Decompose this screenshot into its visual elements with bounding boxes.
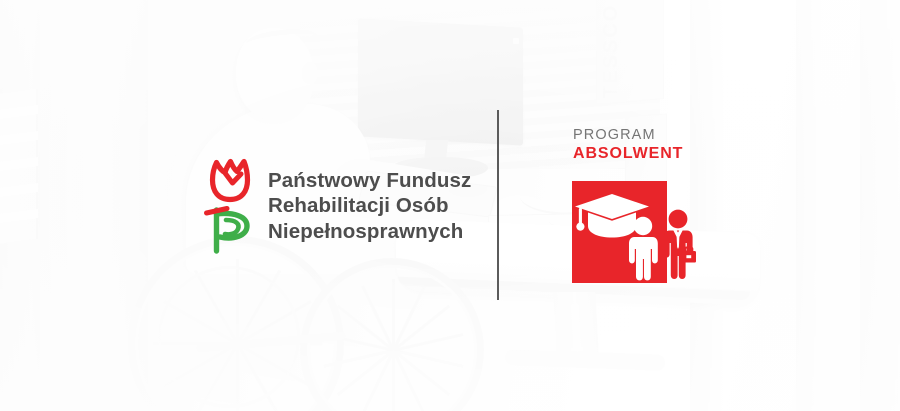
program-kicker: PROGRAM xyxy=(573,126,683,144)
pfron-logo-wordmark: Państwowy Fundusz Rehabilitacji Osób Nie… xyxy=(268,168,471,245)
vertical-divider xyxy=(497,110,499,300)
program-title: ABSOLWENT xyxy=(573,144,683,164)
pfron-logo-lockup: Państwowy Fundusz Rehabilitacji Osób Nie… xyxy=(203,158,471,254)
pfron-tulip-logo-icon xyxy=(203,158,257,254)
pfron-name-line-2: Rehabilitacji Osób xyxy=(268,194,449,217)
banner-root: TESSCO xyxy=(0,0,900,411)
program-absolwent-emblem xyxy=(572,181,696,284)
pfron-name-line-1: Państwowy Fundusz xyxy=(268,169,471,192)
program-text-block: PROGRAM ABSOLWENT xyxy=(573,126,683,164)
pfron-name-line-3: Niepełnosprawnych xyxy=(268,220,463,243)
businessperson-with-briefcase-icon xyxy=(664,210,696,279)
